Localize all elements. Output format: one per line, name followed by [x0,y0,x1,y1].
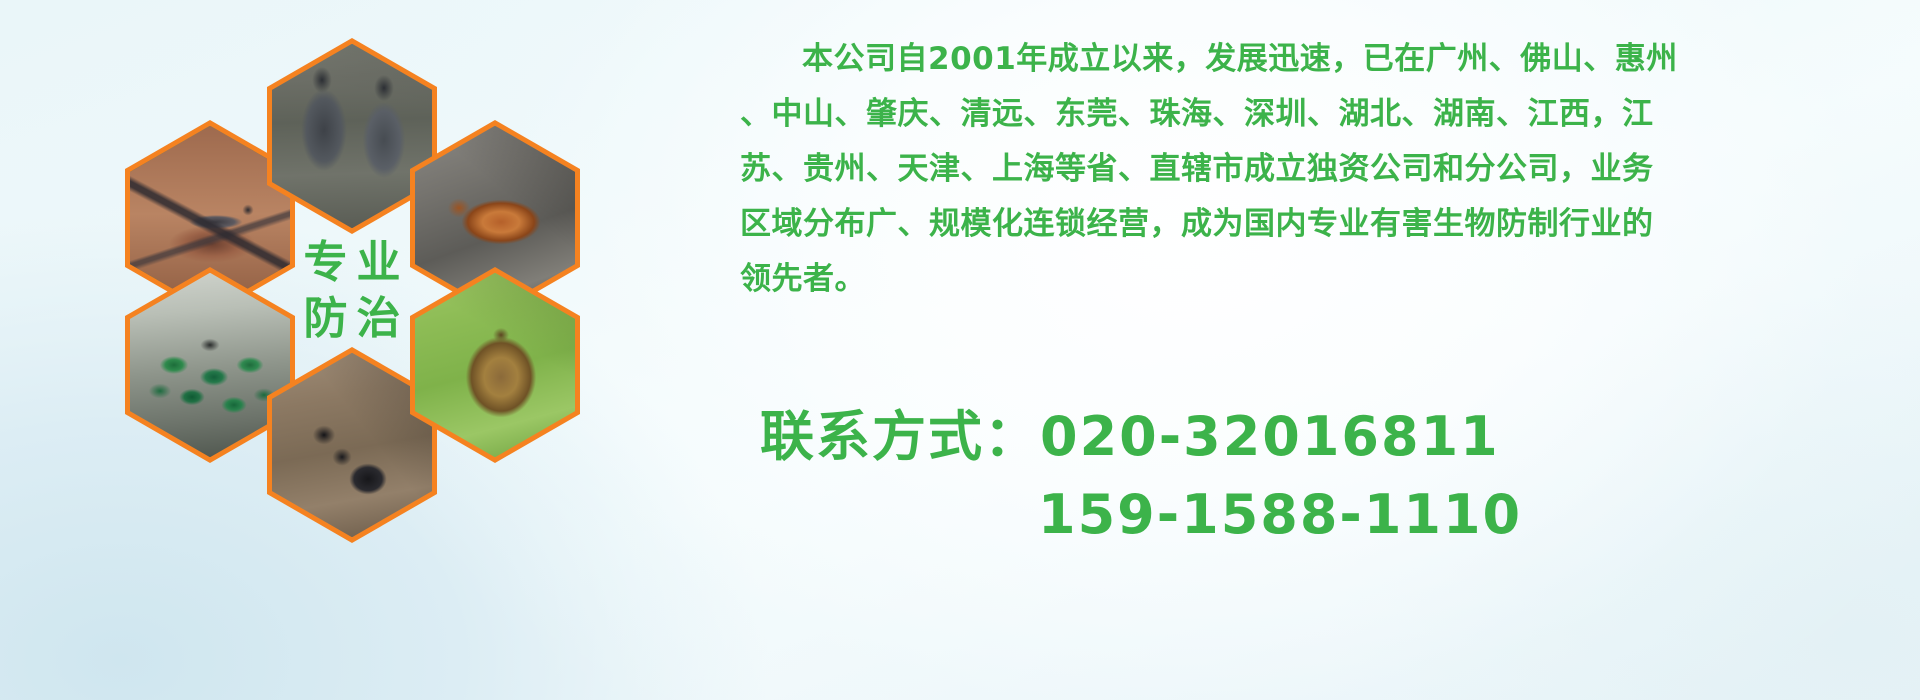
flies-photo [130,273,290,458]
contact-phone-primary[interactable]: 联系方式：020-32016811 [760,398,1860,476]
center-label-line-1: 专业 [295,241,410,285]
center-label-line-2: 防治 [295,297,410,341]
hex-inner-flies [130,273,290,458]
description-line-5: 领先者。 [740,252,1870,307]
honeycomb-gallery: 专业 防治 [95,10,595,570]
banner-root: 专业 防治 本公司自2001年成立以来，发展迅速，已在广州、佛山、惠州 、中山、… [0,0,1920,700]
company-description: 本公司自2001年成立以来，发展迅速，已在广州、佛山、惠州 、中山、肇庆、清远、… [740,32,1870,307]
hex-inner-stink-bug [415,273,575,458]
description-line-1: 本公司自2001年成立以来，发展迅速，已在广州、佛山、惠州 [740,32,1870,87]
contact-phone-secondary[interactable]: 159-1588-1110 [760,476,1860,554]
description-line-2: 、中山、肇庆、清远、东莞、珠海、深圳、湖北、湖南、江西，江 [740,87,1870,142]
description-line-3: 苏、贵州、天津、上海等省、直辖市成立独资公司和分公司，业务 [740,142,1870,197]
honeycomb-center-label: 专业 防治 [267,193,437,389]
description-line-4: 区域分布广、规模化连锁经营，成为国内专业有害生物防制行业的 [740,197,1870,252]
stink-bug-photo [415,273,575,458]
contact-block: 联系方式：020-32016811 159-1588-1110 [760,398,1860,554]
